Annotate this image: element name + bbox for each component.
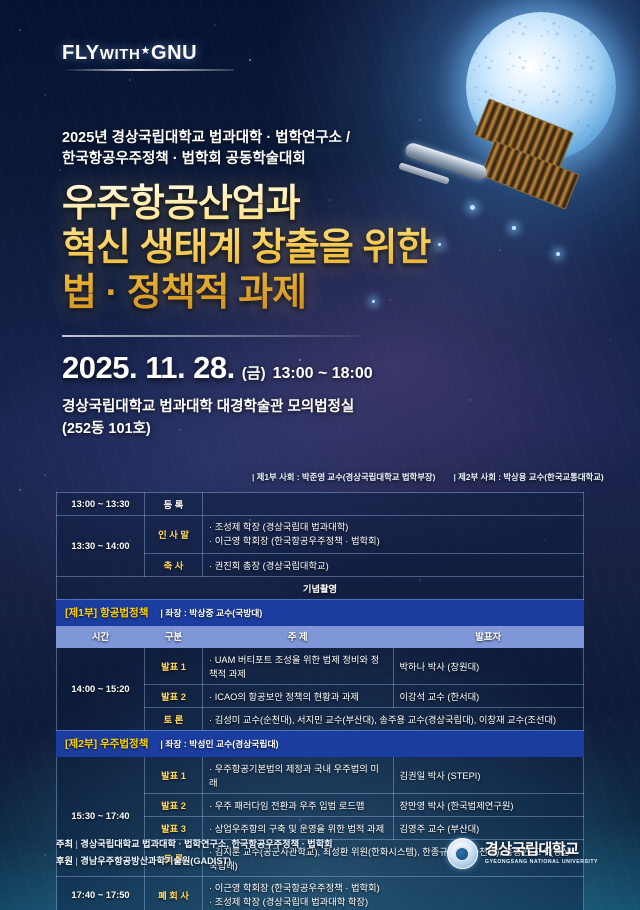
table-row: 15:30 ~ 17:40 발표 1 우주항공기본법의 제정과 국내 우주법의 … (57, 756, 584, 793)
part2-label: [제2부] 우주법정책 (65, 736, 148, 751)
page-title-line3: 법 · 정책적 과제 (62, 271, 512, 315)
cell-part-header: [제1부] 항공법정책 좌장 : 박상중 교수(국방대) (57, 599, 584, 625)
cell-time: 14:00 ~ 15:20 (57, 647, 145, 730)
cell-part-header: [제2부] 우주법정책 좌장 : 박성민 교수(경상국립대) (57, 730, 584, 756)
cell-kind: 토 론 (145, 707, 203, 730)
part1-label: [제1부] 항공법정책 (65, 605, 148, 620)
cell-topic: 우주항공기본법의 제정과 국내 우주법의 미래 (203, 756, 394, 793)
footer-sponsor-line: 후원경남우주항공방산과학기술원(GADIST) (56, 853, 333, 870)
cell-topic: 김성미 교수(순천대), 서지민 교수(부산대), 송주용 교수(경상국립대),… (203, 707, 584, 730)
column-header-kind: 구분 (145, 625, 203, 647)
cell-topic: UAM 버티포트 조성을 위한 법제 정비와 정책적 과제 (203, 647, 394, 684)
cell-time: 17:40 ~ 17:50 (57, 876, 145, 910)
cell-presenter: 김영주 교수 (부산대) (393, 816, 584, 839)
event-date: 2025. 11. 28. (62, 350, 235, 386)
star-glow-icon (556, 252, 560, 256)
cell-time: 13:00 ~ 13:30 (57, 493, 145, 516)
logo-word-with: WITH (100, 46, 141, 63)
logo-underline (62, 69, 234, 71)
table-row: 17:40 ~ 17:50 폐 회 사 이근영 학회장 (한국항공우주정책 · … (57, 876, 584, 910)
star-icon: ★ (140, 45, 150, 57)
cell-kind: 발표 2 (145, 793, 203, 816)
cell-topic: ICAO의 항공보안 정책의 현황과 과제 (203, 684, 394, 707)
cell-kind: 인 사 말 (145, 516, 203, 554)
cell-kind: 발표 1 (145, 756, 203, 793)
cell-presenter: 김권일 박사 (STEPI) (393, 756, 584, 793)
cell-topic: 우주 패러다임 전환과 우주 입법 로드맵 (203, 793, 394, 816)
university-logo: 경상국립대학교 GYEONGSANG NATIONAL UNIVERSITY (447, 838, 598, 869)
event-venue-line2: (252동 101호) (62, 419, 512, 441)
conference-poster: FLYWITH★GNU 2025년 경상국립대학교 법과대학 · 법학연구소 /… (0, 0, 640, 910)
university-logo-text: 경상국립대학교 GYEONGSANG NATIONAL UNIVERSITY (485, 842, 598, 865)
university-name-ko: 경상국립대학교 (485, 842, 598, 859)
part2-chair: 좌장 : 박성민 교수(경상국립대) (160, 737, 278, 750)
footer-sponsor-key: 후원 (56, 856, 80, 866)
footer-organizers: 주최경상국립대학교 법과대학 · 법학연구소, 한국항공우주정책 · 법학회 후… (56, 836, 333, 870)
cell-kind: 발표 1 (145, 647, 203, 684)
footer-host-value: 경상국립대학교 법과대학 · 법학연구소, 한국항공우주정책 · 법학회 (80, 839, 332, 849)
event-datetime: 2025. 11. 28. (금) 13:00 ~ 18:00 (62, 350, 512, 386)
cell-kind: 폐 회 사 (145, 876, 203, 910)
moderator-part1: 제1부 사회 : 박준영 교수(경상국립대학교 법학부장) (252, 471, 435, 483)
event-venue-line1: 경상국립대학교 법과대학 대경학술관 모의법정실 (62, 397, 512, 419)
topic-item: 이근영 학회장 (한국항공우주정책 · 법학회) (209, 534, 577, 548)
column-header-presenter: 발표자 (393, 625, 584, 647)
part1-chair: 좌장 : 박상중 교수(국방대) (160, 606, 262, 619)
university-emblem-icon (447, 838, 478, 869)
table-row: 14:00 ~ 15:20 발표 1 UAM 버티포트 조성을 위한 법제 정비… (57, 647, 584, 684)
cell-presenter: 이강석 교수 (한서대) (393, 684, 584, 707)
cell-topic: 조성제 학장 (경상국립대 법과대학) 이근영 학회장 (한국항공우주정책 · … (203, 516, 584, 554)
cell-topic (203, 493, 584, 516)
column-header-row: 시간 구분 주 제 발표자 (57, 625, 584, 647)
topic-item: 조성제 학장 (경상국립대 법과대학) (209, 520, 577, 534)
page-title: 우주항공산업과 혁신 생태계 창출을 위한 법 · 정책적 과제 (62, 182, 512, 315)
cell-time: 13:30 ~ 14:00 (57, 516, 145, 577)
cell-topic: 권진회 총장 (경상국립대학교) (203, 553, 584, 576)
event-time-range: 13:00 ~ 18:00 (273, 365, 373, 383)
event-subtitle-line2: 한국항공우주정책 · 법학회 공동학술대회 (62, 149, 512, 170)
column-header-time: 시간 (57, 625, 145, 647)
footer-sponsor-value: 경남우주항공방산과학기술원(GADIST) (80, 856, 231, 866)
event-weekday: (금) (242, 362, 266, 383)
part2-header-row: [제2부] 우주법정책 좌장 : 박성민 교수(경상국립대) (57, 730, 584, 756)
university-name-en: GYEONGSANG NATIONAL UNIVERSITY (485, 859, 598, 865)
topic-item: 이근영 학회장 (한국항공우주정책 · 법학회) (209, 881, 577, 895)
part1-header-row: [제1부] 항공법정책 좌장 : 박상중 교수(국방대) (57, 599, 584, 625)
table-row-photo: 기념촬영 (57, 576, 584, 599)
fly-with-gnu-logo: FLYWITH★GNU (62, 42, 234, 71)
logo-word-fly: FLY (62, 42, 100, 64)
cell-kind: 축 사 (145, 553, 203, 576)
star-glow-icon (512, 226, 516, 230)
headline-block: 2025년 경상국립대학교 법과대학 · 법학연구소 / 한국항공우주정책 · … (62, 128, 512, 440)
event-venue: 경상국립대학교 법과대학 대경학술관 모의법정실 (252동 101호) (62, 397, 512, 441)
page-title-line1: 우주항공산업과 (62, 182, 512, 226)
cell-kind: 발표 2 (145, 684, 203, 707)
topic-item: 조성제 학장 (경상국립대 법과대학 학장) (209, 895, 577, 909)
moderator-part2: 제2부 사회 : 박상용 교수(한국교통대학교) (453, 471, 603, 483)
cell-kind: 등 록 (145, 493, 203, 516)
footer-host-line: 주최경상국립대학교 법과대학 · 법학연구소, 한국항공우주정책 · 법학회 (56, 836, 333, 853)
fly-with-gnu-logo-text: FLYWITH★GNU (62, 42, 234, 65)
topic-item: 권진회 총장 (경상국립대학교) (209, 561, 329, 571)
logo-word-gnu: GNU (151, 42, 197, 64)
cell-topic: 이근영 학회장 (한국항공우주정책 · 법학회) 조성제 학장 (경상국립대 법… (203, 876, 584, 910)
page-title-line2: 혁신 생태계 창출을 위한 (62, 226, 512, 270)
event-subtitle-line1: 2025년 경상국립대학교 법과대학 · 법학연구소 / (62, 128, 512, 149)
session-moderators: 제1부 사회 : 박준영 교수(경상국립대학교 법학부장) 제2부 사회 : 박… (252, 471, 588, 483)
title-divider (62, 335, 362, 337)
table-row: 13:00 ~ 13:30 등 록 (57, 493, 584, 516)
table-row: 13:30 ~ 14:00 인 사 말 조성제 학장 (경상국립대 법과대학) … (57, 516, 584, 554)
footer-host-key: 주최 (56, 839, 80, 849)
cell-presenter: 박하나 박사 (창원대) (393, 647, 584, 684)
column-header-topic: 주 제 (203, 625, 394, 647)
event-subtitle: 2025년 경상국립대학교 법과대학 · 법학연구소 / 한국항공우주정책 · … (62, 128, 512, 170)
cell-presenter: 장만영 박사 (한국법제연구원) (393, 793, 584, 816)
cell-photo-session: 기념촬영 (57, 576, 584, 599)
